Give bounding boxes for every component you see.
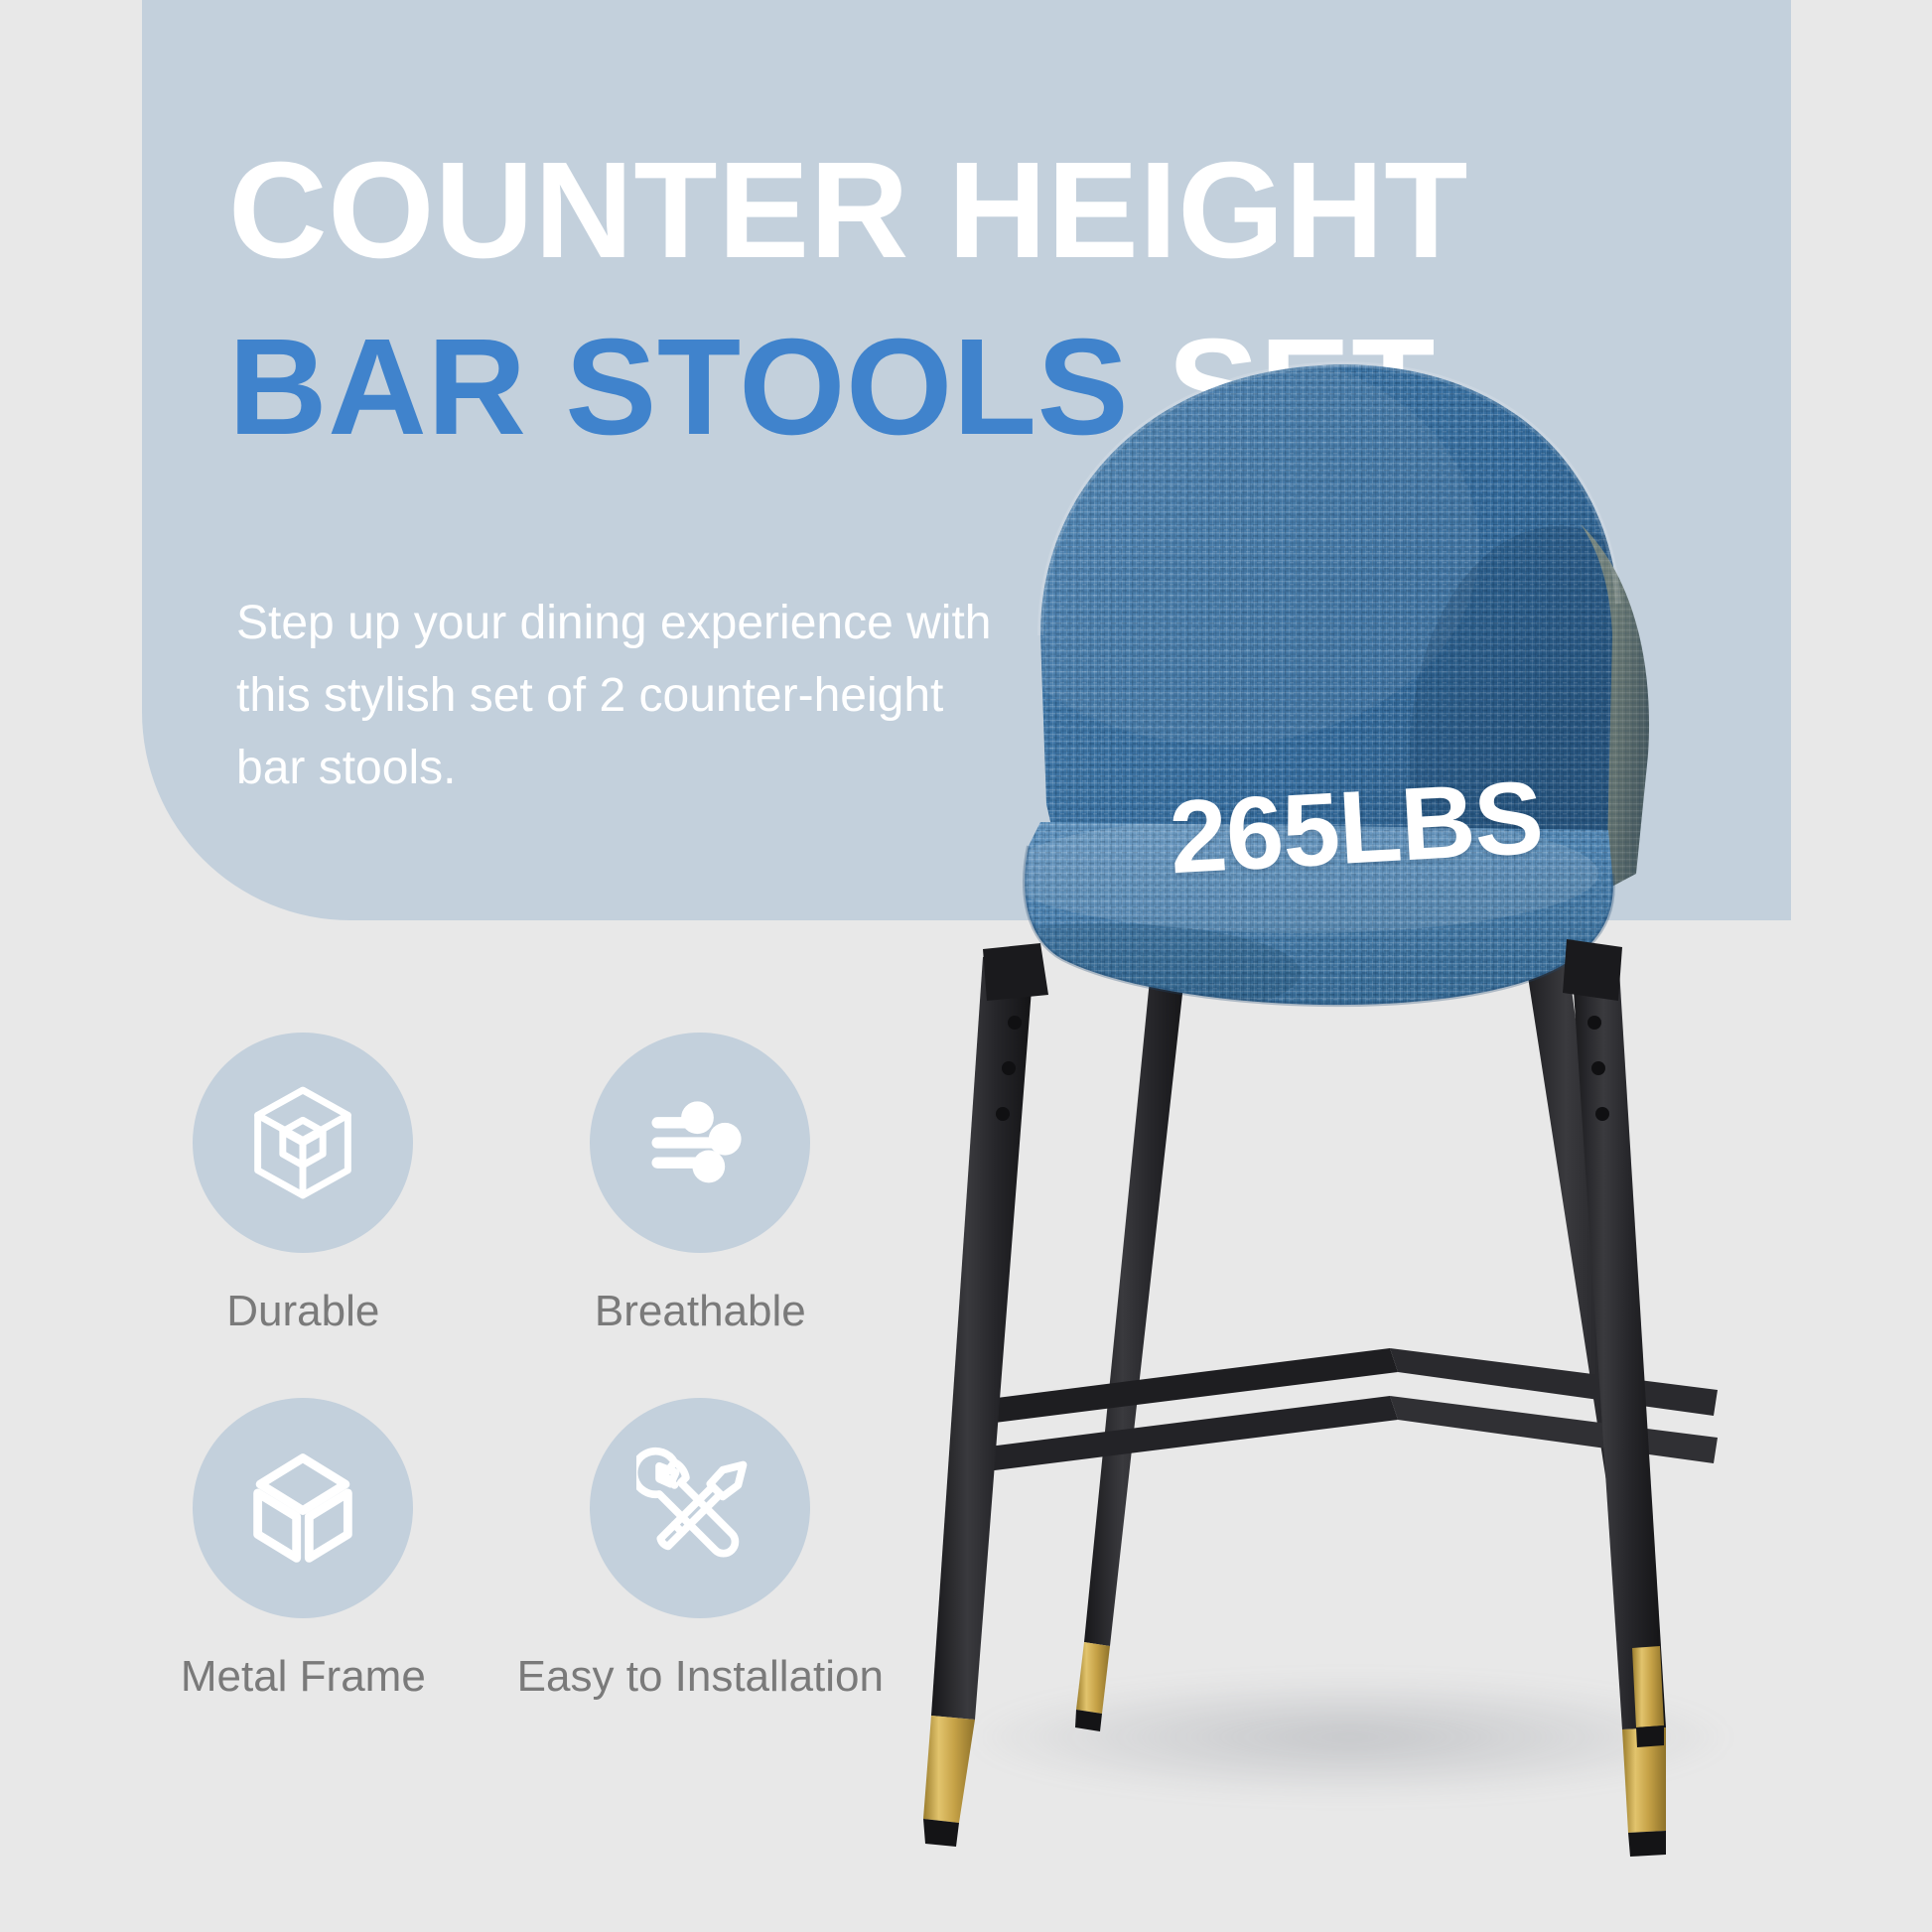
airflow-wind-icon	[637, 1080, 762, 1205]
feature-icon-badge	[590, 1033, 810, 1253]
feature-icon-badge	[590, 1398, 810, 1618]
feature-label: Easy to Installation	[517, 1652, 884, 1702]
stool-front-legs	[923, 939, 1718, 1857]
isometric-cube-icon	[240, 1446, 365, 1571]
feature-label: Metal Frame	[181, 1652, 426, 1702]
weight-capacity-badge: 265LBS	[1167, 759, 1546, 898]
feature-icon-badge	[193, 1033, 413, 1253]
gold-foot-cap	[1632, 1646, 1664, 1727]
feature-item-breathable[interactable]: Breathable	[517, 1033, 884, 1336]
gold-foot-cap	[1076, 1642, 1110, 1714]
feature-label: Breathable	[595, 1287, 806, 1336]
product-marketing-banner: COUNTER HEIGHT BAR STOOLS SET Step up yo…	[0, 0, 1932, 1932]
feature-list: Durable Breathable	[149, 1033, 884, 1702]
wrench-screwdriver-icon	[636, 1445, 763, 1572]
feature-item-easy-installation[interactable]: Easy to Installation	[517, 1398, 884, 1702]
hero-description: Step up your dining experience with this…	[236, 588, 1021, 805]
feature-item-metal-frame[interactable]: Metal Frame	[149, 1398, 458, 1702]
feature-item-durable[interactable]: Durable	[149, 1033, 458, 1336]
gold-foot-cap	[923, 1716, 975, 1823]
bar-stool-product-image	[923, 338, 1837, 1886]
headline-line-primary: COUNTER HEIGHT	[228, 147, 1837, 276]
feature-label: Durable	[226, 1287, 379, 1336]
feature-icon-badge	[193, 1398, 413, 1618]
stool-rear-legs	[1084, 894, 1660, 1648]
cube-wireframe-icon	[240, 1080, 365, 1205]
